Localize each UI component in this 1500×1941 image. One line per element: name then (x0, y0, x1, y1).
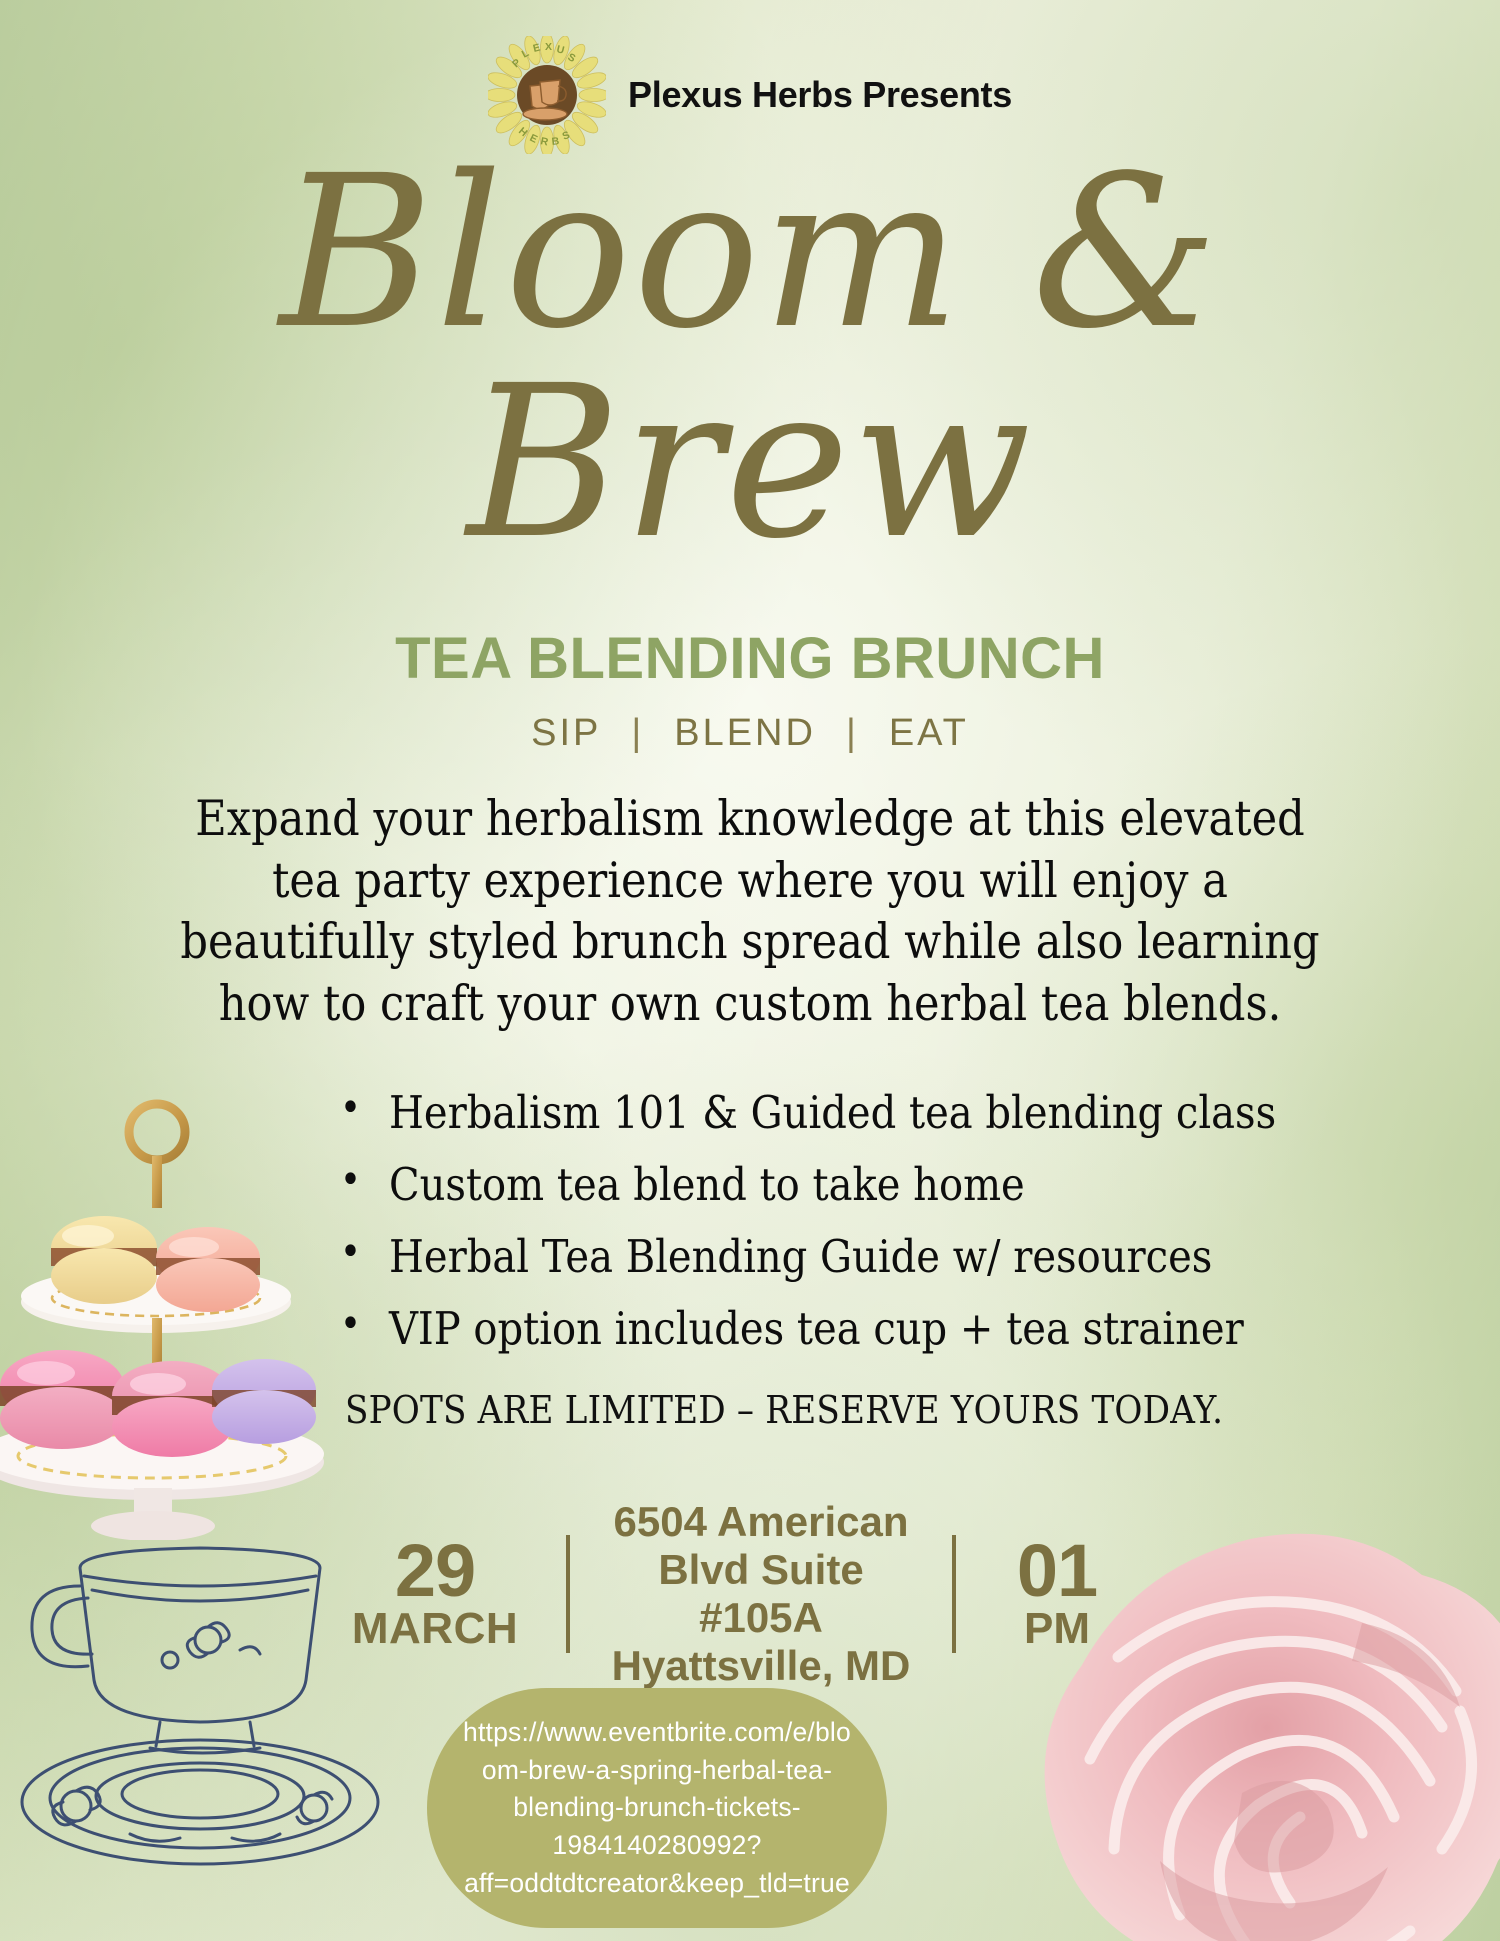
event-description: Expand your herbalism knowledge at this … (159, 788, 1342, 1035)
tagline-separator-1: | (631, 712, 644, 755)
divider-2 (952, 1535, 956, 1653)
call-to-action-text: SPOTS ARE LIMITED – RESERVE YOURS TODAY. (345, 1388, 1223, 1432)
tagline-separator-2: | (846, 712, 859, 755)
divider-1 (566, 1535, 570, 1653)
event-venue: 6504 American Blvd Suite #105A Hyattsvil… (596, 1498, 926, 1690)
tagline-item-blend: BLEND (674, 712, 816, 755)
event-date-day: 29 (330, 1536, 540, 1606)
macaron-tier-stand-illustration (0, 1090, 336, 1540)
tagline-item-eat: EAT (889, 712, 969, 755)
event-date: 29 MARCH (330, 1536, 540, 1652)
event-subtitle: TEA BLENDING BRUNCH (0, 625, 1500, 692)
event-title: Bloom & Brew (0, 148, 1500, 568)
ticket-url-link[interactable]: https://www.eventbrite.com/e/bloom-brew-… (427, 1688, 887, 1928)
presents-line: Plexus Herbs Presents (628, 74, 1012, 116)
event-flyer: P L E X U S H E R B S Plexus Herbs Prese… (0, 0, 1500, 1941)
svg-text:E: E (532, 42, 542, 55)
list-item: Custom tea blend to take home (340, 1162, 1283, 1207)
event-time-meridiem: PM (982, 1606, 1132, 1652)
list-item: Herbalism 101 & Guided tea blending clas… (340, 1090, 1283, 1135)
event-time: 01 PM (982, 1536, 1132, 1652)
event-details-strip: 29 MARCH 6504 American Blvd Suite #105A … (330, 1498, 1160, 1690)
list-item: VIP option includes tea cup + tea strain… (340, 1306, 1283, 1351)
tagline-item-sip: SIP (531, 712, 601, 755)
event-time-hour: 01 (982, 1536, 1132, 1606)
tagline: SIP | BLEND | EAT (0, 712, 1500, 755)
svg-text:X: X (545, 41, 552, 53)
inclusions-list: Herbalism 101 & Guided tea blending clas… (340, 1090, 1400, 1378)
list-item: Herbal Tea Blending Guide w/ resources (340, 1234, 1283, 1279)
event-date-month: MARCH (330, 1606, 540, 1652)
